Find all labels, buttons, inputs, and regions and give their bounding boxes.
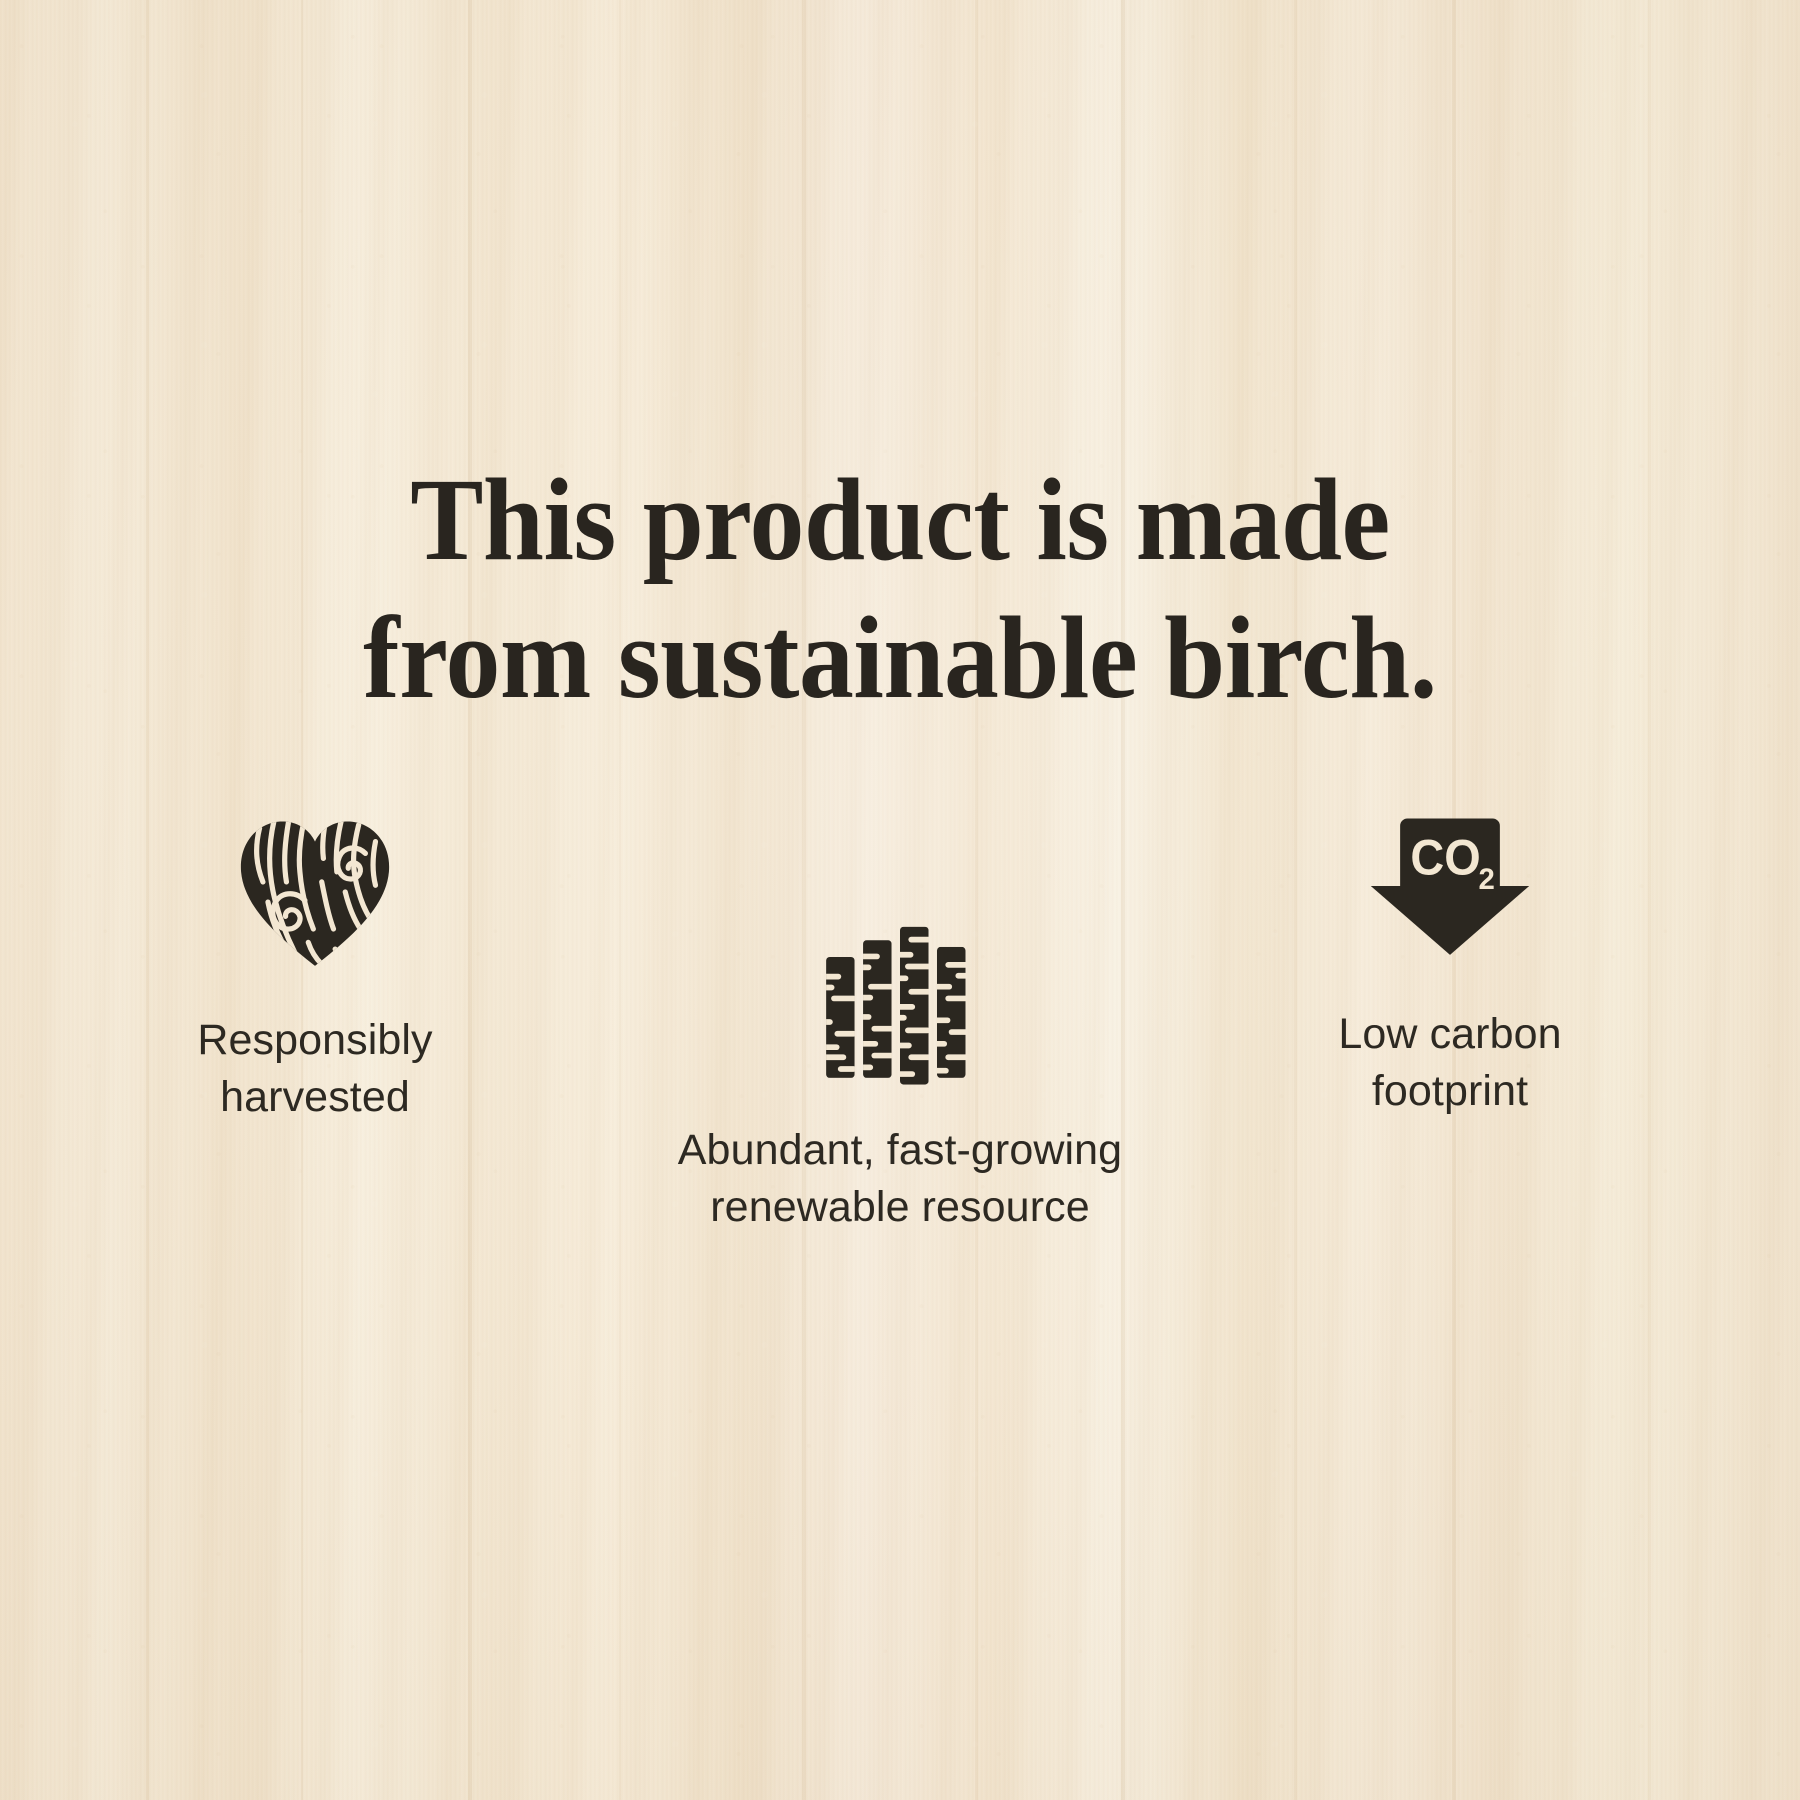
- product-sustainability-card: This product is made from sustainable bi…: [0, 0, 1800, 1800]
- feature-label-renewable-resource: Abundant, fast-growing renewable resourc…: [600, 1122, 1200, 1236]
- headline: This product is made from sustainable bi…: [63, 451, 1737, 727]
- wood-grain-heart-icon: [231, 808, 399, 976]
- feature-low-carbon-footprint: CO 2 Low carbon footprint: [1200, 812, 1700, 1120]
- feature-label-low-carbon-footprint: Low carbon footprint: [1200, 1006, 1700, 1120]
- card-content: This product is made from sustainable bi…: [0, 0, 1800, 1800]
- co2-subscript-text: 2: [1479, 863, 1495, 896]
- co2-formula-text: CO: [1410, 830, 1480, 886]
- feature-renewable-resource: Abundant, fast-growing renewable resourc…: [600, 920, 1200, 1236]
- co2-down-arrow-icon: CO 2: [1362, 812, 1538, 960]
- feature-responsibly-harvested: Responsibly harvested: [75, 808, 555, 1126]
- feature-label-responsibly-harvested: Responsibly harvested: [75, 1012, 555, 1126]
- feature-list: Responsibly harvested: [0, 760, 1800, 1280]
- birch-trees-icon: [816, 920, 984, 1088]
